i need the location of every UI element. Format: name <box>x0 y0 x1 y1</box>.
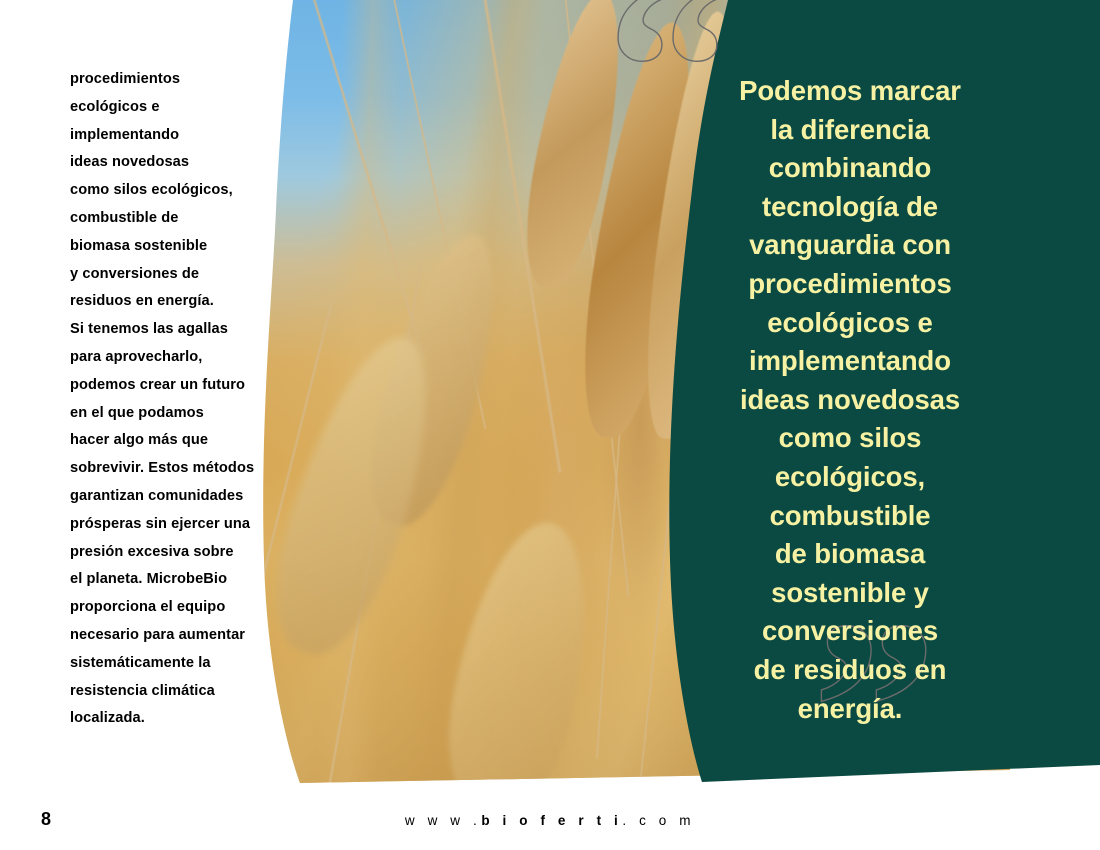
wheat-head <box>430 511 610 800</box>
stem-decoration <box>380 0 487 429</box>
brochure-page: “ ” Podemos marcar la diferencia combina… <box>0 0 1100 850</box>
website-url[interactable]: w w w .b i o f e r t i. c o m <box>0 813 1100 828</box>
website-suffix: . c o m <box>622 813 695 828</box>
website-prefix: w w w . <box>405 813 481 828</box>
stem-decoration <box>595 120 643 759</box>
website-brand: b i o f e r t i <box>481 813 622 828</box>
stem-decoration <box>300 0 427 362</box>
stem-decoration <box>470 0 563 473</box>
wheat-head <box>350 223 519 536</box>
pull-quote-text: Podemos marcar la diferencia combinando … <box>700 72 1000 728</box>
stem-decoration <box>326 260 424 792</box>
body-copy-text: procedimientos ecológicos e implementand… <box>70 66 302 733</box>
